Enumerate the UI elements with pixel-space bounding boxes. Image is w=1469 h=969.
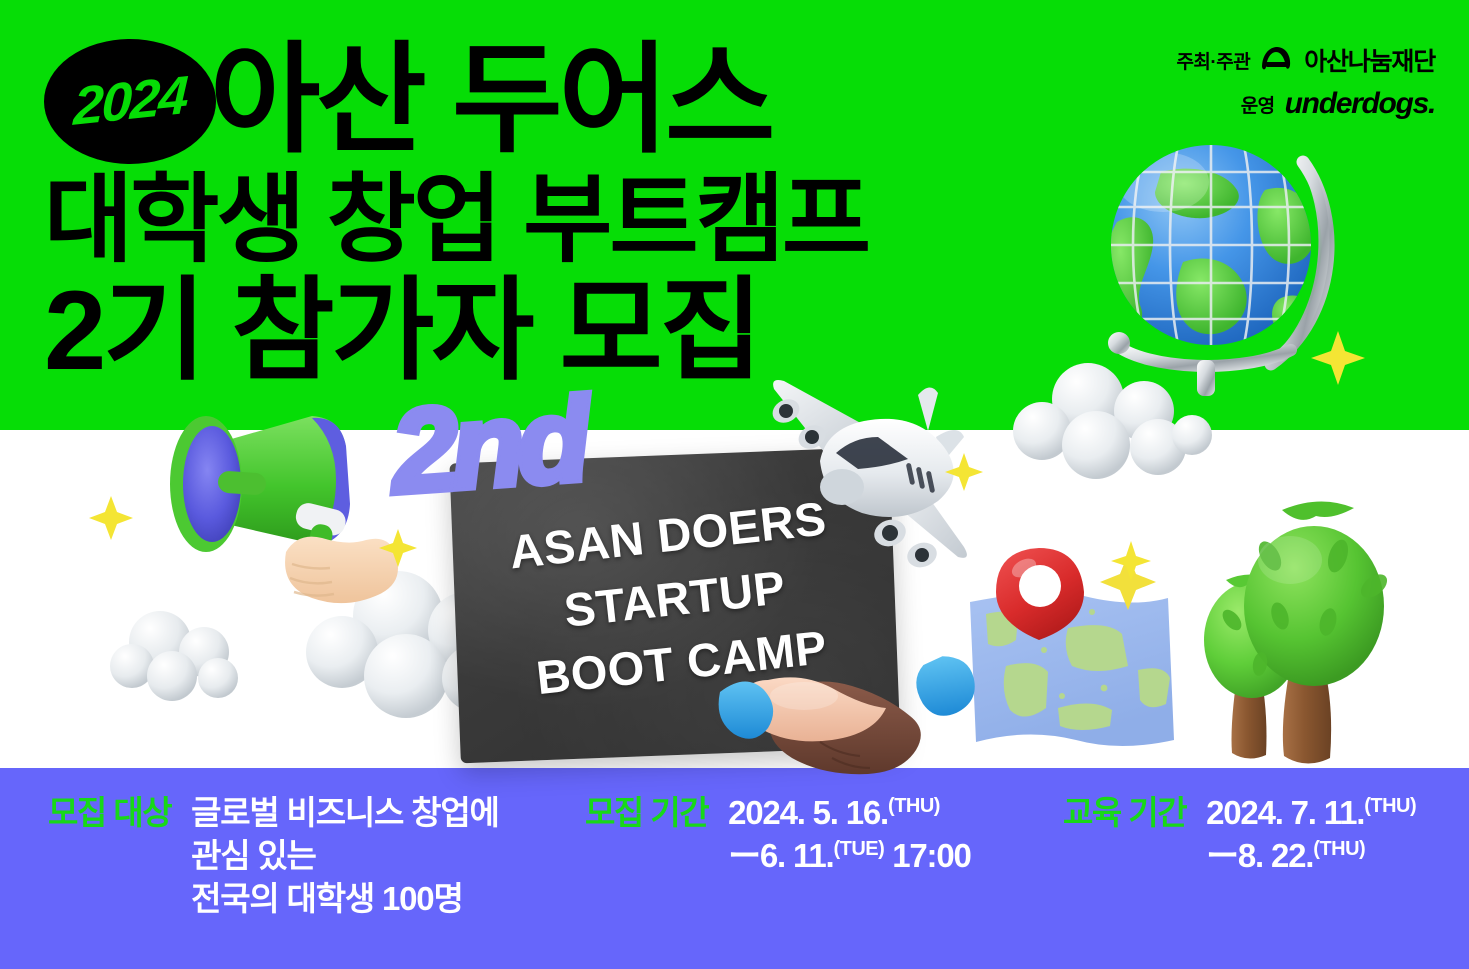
host-name: 아산나눔재단 bbox=[1304, 42, 1435, 78]
info-body-target: 글로벌 비즈니스 창업에 관심 있는 전국의 대학생 100명 bbox=[191, 792, 499, 921]
application-end-line: ー6. 11.(TUE) 17:00 bbox=[728, 835, 971, 878]
operator-row: 운영 underdogs. bbox=[1176, 87, 1435, 121]
application-end-time: 17:00 bbox=[884, 837, 970, 874]
megaphone-icon bbox=[160, 388, 405, 618]
poster-canvas: 주최·주관 아산나눔재단 운영 underdogs. 2024 아산 두어스 대… bbox=[0, 0, 1469, 969]
sparkle-icon bbox=[378, 528, 418, 568]
asan-a-logo-icon bbox=[1260, 45, 1294, 75]
target-line-2: 관심 있는 bbox=[191, 835, 499, 878]
info-label-education-period: 교육 기간 bbox=[1063, 792, 1186, 878]
info-body-application-period: 2024. 5. 16.(THU) ー6. 11.(TUE) 17:00 bbox=[728, 792, 971, 878]
sparkle-icon bbox=[1310, 330, 1366, 386]
application-end-day: (TUE) bbox=[833, 838, 884, 860]
page-title: 아산 두어스 bbox=[210, 45, 771, 157]
sparkle-icon bbox=[88, 495, 134, 541]
education-end-day: (THU) bbox=[1313, 838, 1365, 860]
application-end-date: ー6. 11. bbox=[728, 837, 833, 874]
application-start-date: 2024. 5. 16. bbox=[728, 794, 888, 831]
sparkle-icon bbox=[1110, 540, 1152, 582]
headline-subtitle-1: 대학생 창업 부트캠프 bbox=[44, 170, 868, 271]
organizer-block: 주최·주관 아산나눔재단 운영 underdogs. bbox=[1176, 42, 1435, 121]
education-end-line: ー8. 22.(THU) bbox=[1206, 835, 1416, 878]
sparkle-icon bbox=[944, 452, 984, 492]
cohort-balloon-text: 2nd bbox=[387, 371, 588, 520]
info-label-application-period: 모집 기간 bbox=[585, 792, 708, 878]
headline-subtitle-2: 2기 참가자 모집 bbox=[44, 275, 868, 387]
target-line-3: 전국의 대학생 100명 bbox=[191, 878, 499, 921]
year-badge: 2024 bbox=[44, 39, 216, 164]
info-block-application-period: 모집 기간 2024. 5. 16.(THU) ー6. 11.(TUE) 17:… bbox=[585, 792, 971, 878]
host-row: 주최·주관 아산나눔재단 bbox=[1176, 42, 1435, 78]
headline-block: 2024 아산 두어스 대학생 창업 부트캠프 2기 참가자 모집 bbox=[44, 34, 868, 387]
handshake-icon bbox=[708, 638, 983, 793]
headline-line-1: 2024 아산 두어스 bbox=[44, 34, 868, 168]
info-block-target: 모집 대상 글로벌 비즈니스 창업에 관심 있는 전국의 대학생 100명 bbox=[48, 792, 499, 921]
education-start-day: (THU) bbox=[1364, 795, 1416, 817]
education-end-date: ー8. 22. bbox=[1206, 837, 1313, 874]
target-line-1: 글로벌 비즈니스 창업에 bbox=[191, 792, 499, 835]
map-pin-icon bbox=[962, 540, 1197, 775]
operator-label: 운영 bbox=[1241, 91, 1275, 118]
info-block-education-period: 교육 기간 2024. 7. 11.(THU) ー8. 22.(THU) bbox=[1063, 792, 1416, 878]
tree-icon bbox=[1198, 488, 1428, 773]
operator-name: underdogs. bbox=[1285, 87, 1435, 121]
application-start-line: 2024. 5. 16.(THU) bbox=[728, 792, 971, 835]
education-start-date: 2024. 7. 11. bbox=[1206, 794, 1364, 831]
education-start-line: 2024. 7. 11.(THU) bbox=[1206, 792, 1416, 835]
host-label: 주최·주관 bbox=[1176, 47, 1250, 74]
info-label-target: 모집 대상 bbox=[48, 792, 171, 921]
application-start-day: (THU) bbox=[888, 795, 940, 817]
info-body-education-period: 2024. 7. 11.(THU) ー8. 22.(THU) bbox=[1206, 792, 1416, 878]
year-text: 2024 bbox=[72, 64, 187, 137]
